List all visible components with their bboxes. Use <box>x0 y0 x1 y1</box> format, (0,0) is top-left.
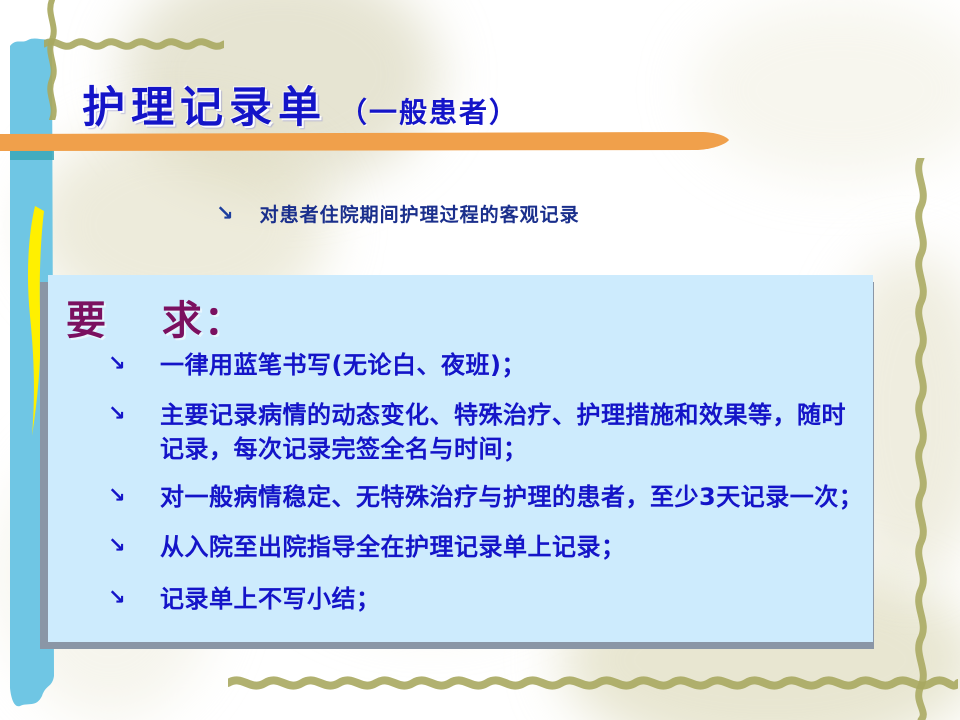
requirements-list: ↘ 一律用蓝笔书写(无论白、夜班)； ↘ 主要记录病情的动态变化、特殊治疗、护理… <box>108 348 868 630</box>
list-item-text: 记录单上不写小结； <box>160 582 381 616</box>
page-title: 护理记录单 （一般患者） <box>82 73 519 135</box>
olive-vine-horizontal-top <box>44 34 224 58</box>
arrow-down-right-icon: ↘ <box>108 480 160 510</box>
section-heading-part1: 要 <box>66 298 108 344</box>
list-item: ↘ 从入院至出院指导全在护理记录单上记录； <box>108 530 868 564</box>
list-item-text: 对一般病情稳定、无特殊治疗与护理的患者，至少3天记录一次； <box>160 480 863 514</box>
title-sub-text: （一般患者） <box>339 91 519 131</box>
list-item: ↘ 对一般病情稳定、无特殊治疗与护理的患者，至少3天记录一次； <box>108 480 868 514</box>
arrow-down-right-icon: ↘ <box>216 203 234 224</box>
list-item: ↘ 主要记录病情的动态变化、特殊治疗、护理措施和效果等，随时记录，每次记录完签全… <box>108 398 868 466</box>
list-item-text: 从入院至出院指导全在护理记录单上记录； <box>160 530 626 564</box>
section-heading: 要 求： <box>66 288 246 346</box>
title-main-text: 护理记录单 <box>82 73 327 135</box>
slide-canvas: 护理记录单 （一般患者） ↘ 对患者住院期间护理过程的客观记录 要 求： ↘ 一… <box>0 0 960 720</box>
list-item: ↘ 一律用蓝笔书写(无论白、夜班)； <box>108 348 868 382</box>
list-item-text: 一律用蓝笔书写(无论白、夜班)； <box>160 348 526 382</box>
list-item: ↘ 记录单上不写小结； <box>108 582 868 616</box>
arrow-down-right-icon: ↘ <box>108 582 160 612</box>
arrow-down-right-icon: ↘ <box>108 348 160 378</box>
section-heading-part2: 求： <box>162 298 246 344</box>
arrow-down-right-icon: ↘ <box>108 530 160 560</box>
olive-vine-vertical-right <box>912 158 930 720</box>
subtitle-row: ↘ 对患者住院期间护理过程的客观记录 <box>216 200 580 227</box>
subtitle-text: 对患者住院期间护理过程的客观记录 <box>260 200 580 227</box>
list-item-text: 主要记录病情的动态变化、特殊治疗、护理措施和效果等，随时记录，每次记录完签全名与… <box>160 398 868 466</box>
olive-vine-horizontal-bottom <box>228 672 958 698</box>
arrow-down-right-icon: ↘ <box>108 398 160 428</box>
